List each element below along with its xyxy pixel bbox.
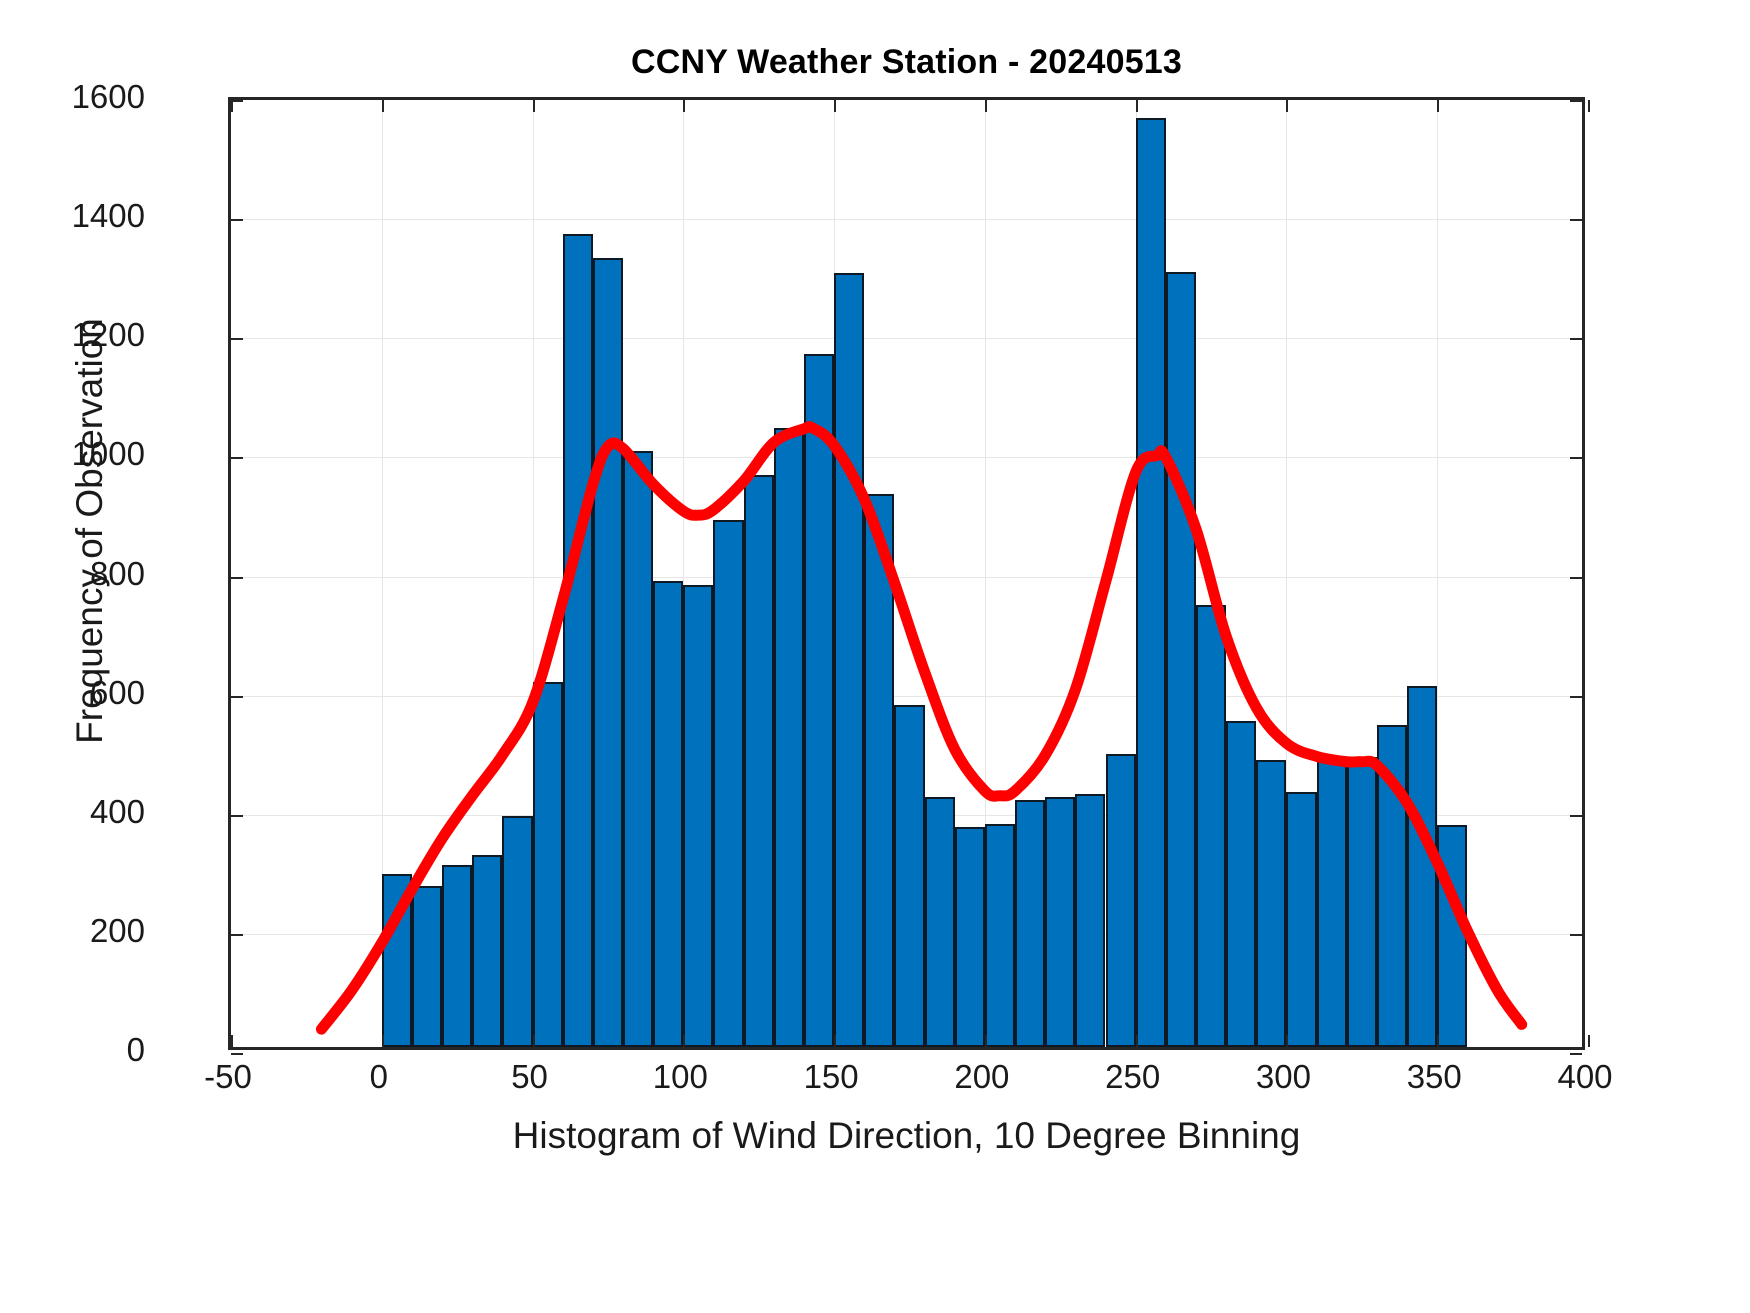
y-tick-mark xyxy=(231,1053,243,1055)
fitted-curve-layer xyxy=(231,100,1582,1047)
x-tick-mark xyxy=(1136,1035,1138,1047)
x-tick-mark xyxy=(985,1035,987,1047)
x-tick-mark xyxy=(231,1035,233,1047)
y-tick-mark xyxy=(1570,577,1582,579)
y-tick-mark xyxy=(1570,100,1582,102)
fitted-curve-path xyxy=(321,427,1521,1030)
x-tick-mark xyxy=(1286,100,1288,112)
x-tick-mark xyxy=(683,100,685,112)
x-tick-mark xyxy=(1437,1035,1439,1047)
y-tick-mark xyxy=(1570,1053,1582,1055)
x-tick-mark xyxy=(1286,1035,1288,1047)
fitted-curve-svg xyxy=(231,100,1588,1053)
x-tick-mark xyxy=(382,100,384,112)
x-tick-mark xyxy=(1588,1035,1590,1047)
x-tick-mark xyxy=(382,1035,384,1047)
y-tick-mark xyxy=(1570,457,1582,459)
matlab-figure: CCNY Weather Station - 20240513 -5005010… xyxy=(0,0,1750,1313)
x-tick-label: 400 xyxy=(1485,1058,1685,1096)
y-tick-mark xyxy=(231,338,243,340)
x-tick-mark xyxy=(1136,100,1138,112)
y-tick-mark xyxy=(231,815,243,817)
y-tick-mark xyxy=(231,934,243,936)
y-tick-mark xyxy=(231,100,243,102)
y-tick-mark xyxy=(231,577,243,579)
x-tick-mark xyxy=(683,1035,685,1047)
x-tick-mark xyxy=(533,1035,535,1047)
y-tick-mark xyxy=(231,696,243,698)
y-axis-label: Frequency of Observation xyxy=(69,31,111,1031)
chart-title: CCNY Weather Station - 20240513 xyxy=(228,40,1585,84)
x-axis-label: Histogram of Wind Direction, 10 Degree B… xyxy=(228,1115,1585,1157)
y-tick-mark xyxy=(1570,696,1582,698)
y-tick-mark xyxy=(1570,815,1582,817)
x-tick-mark xyxy=(985,100,987,112)
x-tick-mark xyxy=(1588,100,1590,112)
x-tick-mark xyxy=(834,1035,836,1047)
y-tick-label: 0 xyxy=(0,1031,145,1069)
y-tick-mark xyxy=(1570,219,1582,221)
y-tick-mark xyxy=(231,457,243,459)
y-tick-mark xyxy=(1570,338,1582,340)
x-tick-mark xyxy=(1437,100,1439,112)
y-tick-mark xyxy=(231,219,243,221)
x-tick-mark xyxy=(533,100,535,112)
plot-area xyxy=(228,97,1585,1050)
y-tick-mark xyxy=(1570,934,1582,936)
x-tick-mark xyxy=(834,100,836,112)
